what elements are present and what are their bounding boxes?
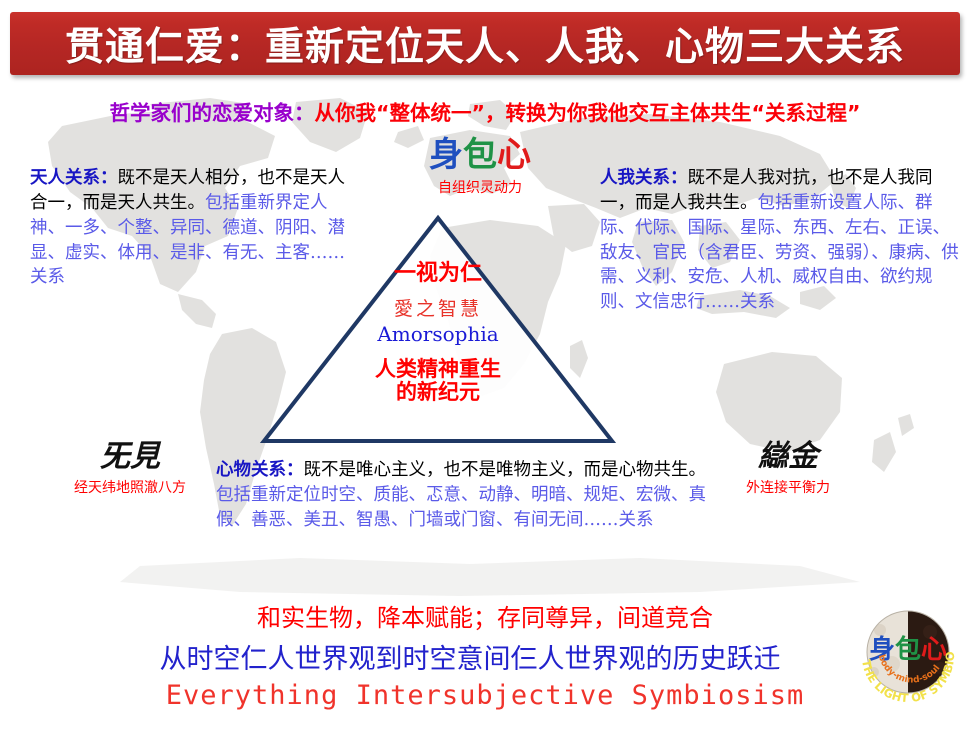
relation-heading-other-self: 人我关系： [600,168,688,188]
subtitle: 哲学家们的恋爱对象：从你我“整体统一”，转换为你我他交互主体共生“关系过程” [0,96,970,126]
triangle-line-1: 一视为仁 [330,262,546,285]
symbiosism-logo[interactable]: 身包心 body-mind-soul THE LIGHT OF SYMBIOSI… [852,598,964,710]
triangle-line-4: 人类精神重生 的新纪元 [330,358,546,403]
symbiosism-composite-character-icon: 身包心 [400,138,560,172]
relation-block-mind-matter: 心物关系：既不是唯心主义，也不是唯物主义，而是心物共生。包括重新定位时空、质能、… [216,458,716,533]
glyph-part-heart: 心 [497,135,531,175]
bottom-slogan-line-3: Everything Intersubjective Symbiosism [0,680,970,711]
glyph-top-group: 身包心 自组织灵动力 [400,138,560,197]
slide-canvas: 贯通仁爱：重新定位天人、人我、心物三大关系 哲学家们的恋爱对象：从你我“整体统一… [0,0,970,740]
glyph-part-wrap: 包 [463,135,497,175]
triangle-line-4b: 的新纪元 [330,381,546,404]
bottom-slogan-line-2: 从时空仁人世界观到时空意间仨人世界观的历史跃迁 [0,637,940,676]
triangle-line-2: 愛之智慧 [330,294,546,321]
subtitle-body: 从你我“整体统一”，转换为你我他交互主体共生“关系过程” [315,101,861,125]
left-seal-character-icon: 旡見 [35,442,225,472]
page-title: 贯通仁爱：重新定位天人、人我、心物三大关系 [65,16,905,72]
bottom-slogan-line-1: 和实生物，降本赋能；存同尊异，间道竞合 [0,598,970,633]
right-seal-character-icon: 䜌金 [693,442,883,472]
relation-block-heaven-human: 天人关系：既不是天人相分，也不是天人合一，而是天人共生。包括重新界定人神、一多、… [30,166,348,290]
glyph-top-caption: 自组织灵动力 [400,177,560,197]
glyph-left-caption: 经天纬地照澈八方 [35,477,225,497]
glyph-right-caption: 外连接平衡力 [693,477,883,497]
glyph-part-body: 身 [429,135,463,175]
glyph-left-group: 旡見 经天纬地照澈八方 [35,442,225,497]
relation-middle-mind-matter: 既不是唯心主义，也不是唯物主义，而是心物共生。 [304,460,707,480]
relation-heading-mind-matter: 心物关系： [216,460,304,480]
relation-block-other-self: 人我关系：既不是人我对抗，也不是人我同一，而是人我共生。包括重新设置人际、群际、… [600,166,960,315]
relation-tail-mind-matter: 包括重新定位时空、质能、忑意、动静、明暗、规矩、宏微、真假、善恶、美丑、智愚、门… [216,485,706,530]
triangle-inner-text: 一视为仁 愛之智慧 Amorsophia 人类精神重生 的新纪元 [330,262,546,403]
glyph-right-group: 䜌金 外连接平衡力 [693,442,883,497]
subtitle-lead: 哲学家们的恋爱对象： [110,101,315,125]
title-banner: 贯通仁爱：重新定位天人、人我、心物三大关系 [10,12,960,75]
triangle-line-4a: 人类精神重生 [330,358,546,381]
triangle-line-3: Amorsophia [330,322,546,346]
relation-heading-heaven-human: 天人关系： [30,168,118,188]
